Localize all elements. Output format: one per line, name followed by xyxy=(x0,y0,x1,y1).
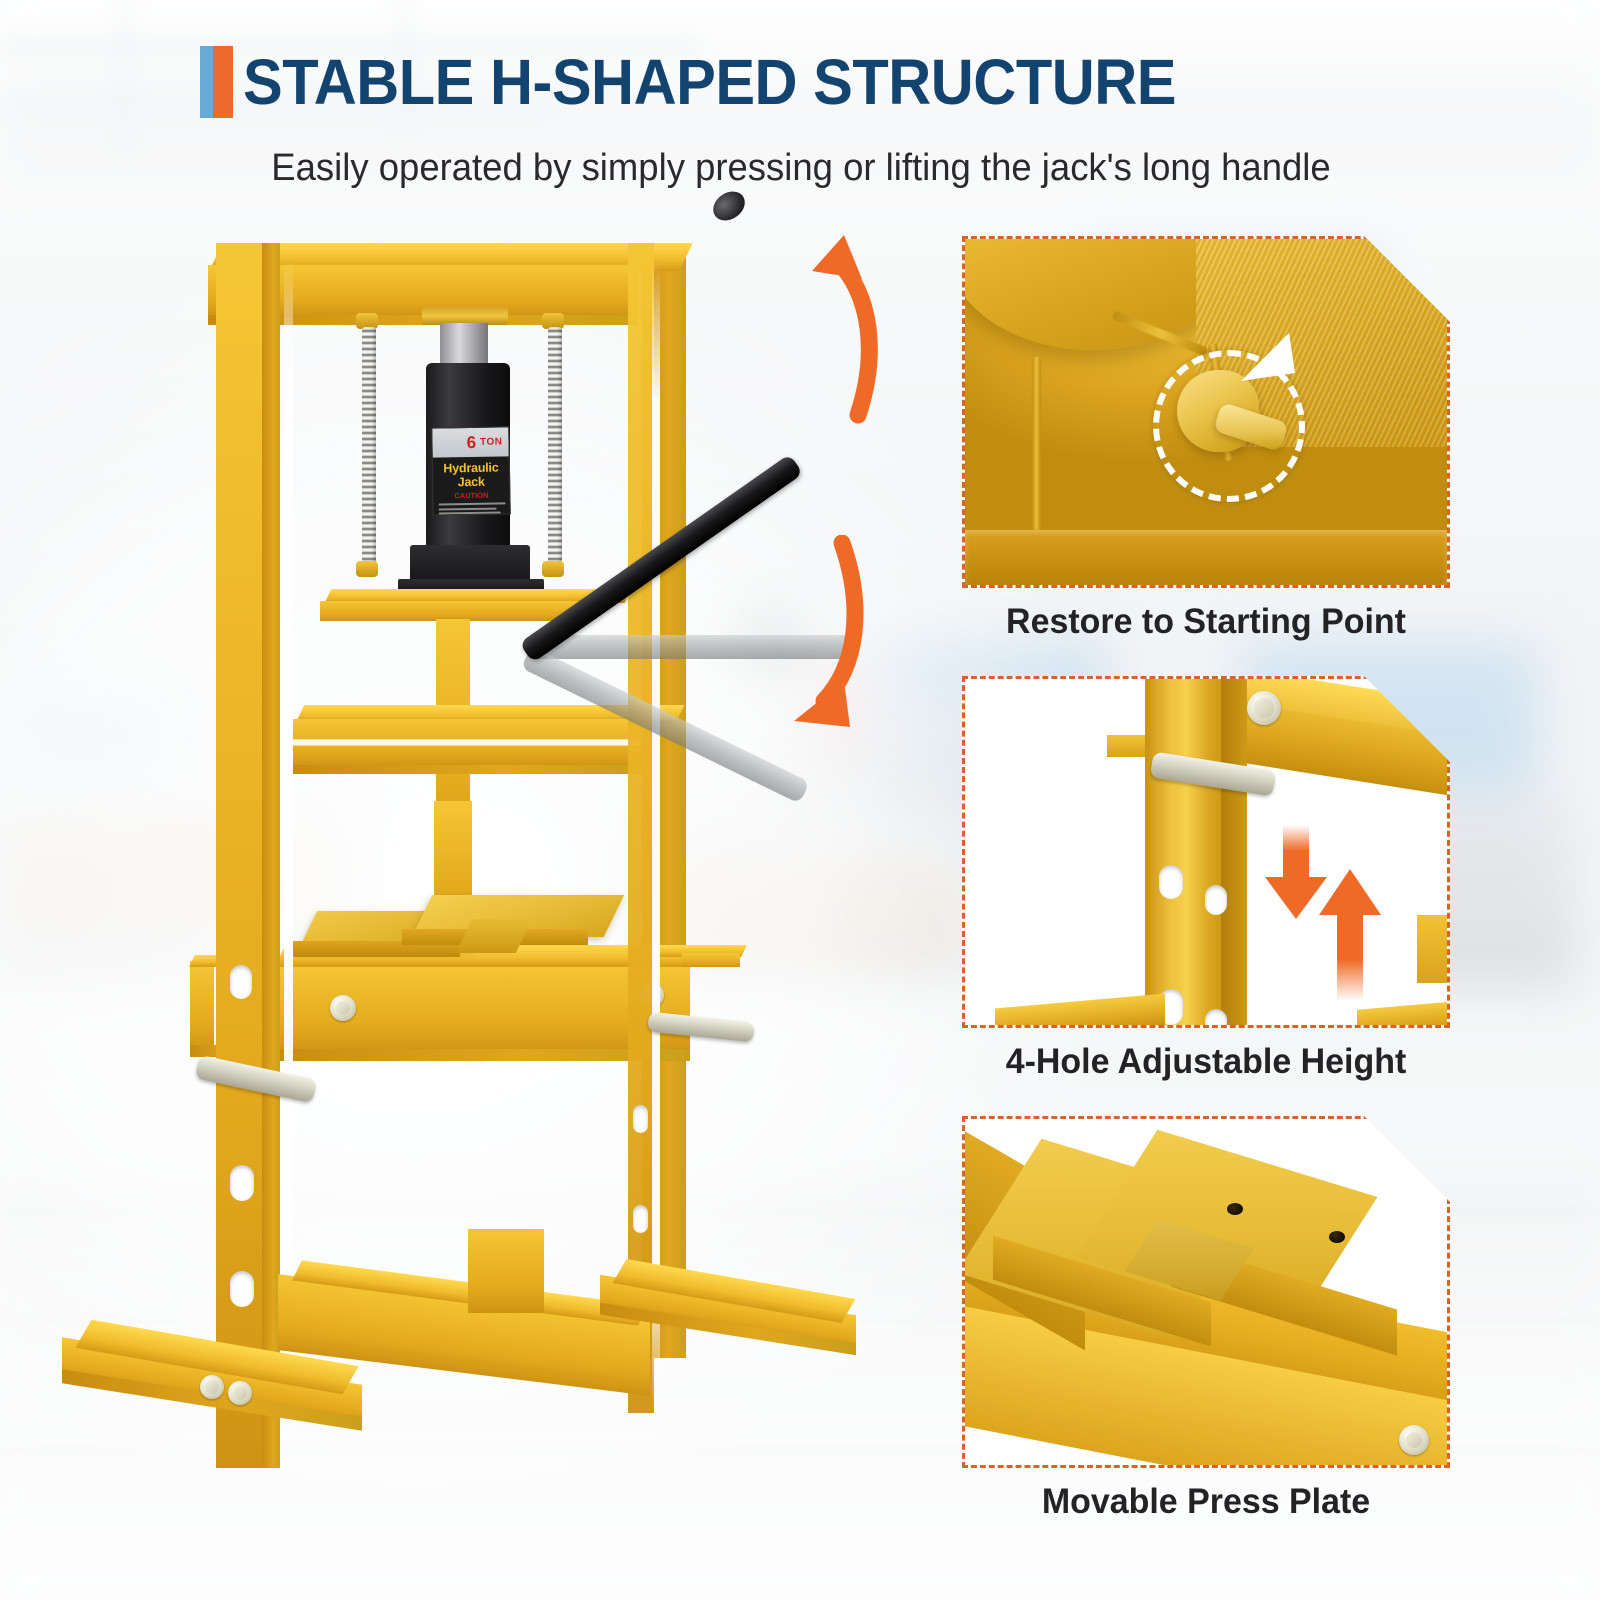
return-spring-right xyxy=(548,327,562,567)
casting-rib xyxy=(1032,357,1041,530)
plate-mount-hole xyxy=(1227,1203,1243,1215)
upright-post-side xyxy=(1221,679,1247,1028)
return-spring-left xyxy=(362,327,376,567)
bed-beam-bolt-left xyxy=(330,995,356,1021)
beam-flange xyxy=(1107,735,1145,757)
rotate-arrow-icon xyxy=(1235,329,1305,389)
adjust-hole xyxy=(1159,865,1183,899)
page-title: STABLE H-SHAPED STRUCTURE xyxy=(243,46,1176,118)
panel-caption-press-plate: Movable Press Plate xyxy=(969,1480,1442,1524)
spring-bottom-anchor xyxy=(542,561,564,577)
base-center-gusset xyxy=(468,1229,544,1313)
arrow-up-icon xyxy=(1315,867,1385,1001)
press-handle-arrow xyxy=(732,535,872,735)
side-flange xyxy=(1417,915,1450,983)
beam-bolt xyxy=(1247,691,1281,725)
page-subtitle: Easily operated by simply pressing or li… xyxy=(211,144,1392,192)
jack-capacity-unit: TON xyxy=(480,437,503,447)
upright-post xyxy=(1145,679,1231,1028)
hero-product-image: 6 TON Hydraulic Jack CAUTION xyxy=(40,205,940,1565)
plate-mount-hole xyxy=(1329,1231,1345,1243)
front-right-upright xyxy=(628,243,654,1413)
adjust-hole xyxy=(1205,885,1227,915)
jack-capacity-number: 6 xyxy=(466,434,476,451)
jack-caution-heading: CAUTION xyxy=(433,491,509,501)
jack-spec-label: 6 TON Hydraulic Jack CAUTION xyxy=(431,426,511,515)
adjust-hole xyxy=(230,965,252,999)
jack-label-capacity-strip: 6 TON xyxy=(432,427,508,458)
adjust-hole xyxy=(230,1165,254,1201)
base-plate-edge xyxy=(965,530,1447,585)
middle-beam-highlight xyxy=(292,739,642,746)
accent-bar-orange xyxy=(213,46,233,118)
adjust-hole xyxy=(633,1105,648,1133)
header: STABLE H-SHAPED STRUCTURE Easily operate… xyxy=(0,0,1600,200)
panel-restore-to-starting-point xyxy=(962,236,1450,588)
jack-mount-plate-front xyxy=(320,601,592,621)
spring-bottom-anchor xyxy=(356,561,378,577)
accent-bar-blue xyxy=(200,46,213,118)
left-bracket-flange xyxy=(190,961,214,1053)
panel-4-hole-adjustable-height xyxy=(962,676,1450,1028)
adjust-hole xyxy=(1205,1009,1227,1028)
foot-bolt xyxy=(200,1375,224,1399)
panel-caption-adjustable-height: 4-Hole Adjustable Height xyxy=(969,1040,1442,1084)
adjust-hole xyxy=(633,1205,648,1233)
middle-beam-edge xyxy=(292,765,642,774)
bed-bolt xyxy=(1399,1425,1429,1455)
foot-bolt xyxy=(228,1381,252,1405)
jack-ram xyxy=(440,323,488,367)
right-bracket-flange xyxy=(682,953,740,967)
adjust-hole xyxy=(230,1271,254,1307)
jack-caution-text-lines xyxy=(439,503,506,516)
title-row: STABLE H-SHAPED STRUCTURE xyxy=(200,46,1246,118)
jack-product-name: Hydraulic Jack xyxy=(433,461,509,490)
panel-caption-restore: Restore to Starting Point xyxy=(969,600,1442,644)
lift-handle-arrow xyxy=(740,225,880,425)
right-upright-highlight xyxy=(652,261,660,1411)
panel-movable-press-plate xyxy=(962,1116,1450,1468)
